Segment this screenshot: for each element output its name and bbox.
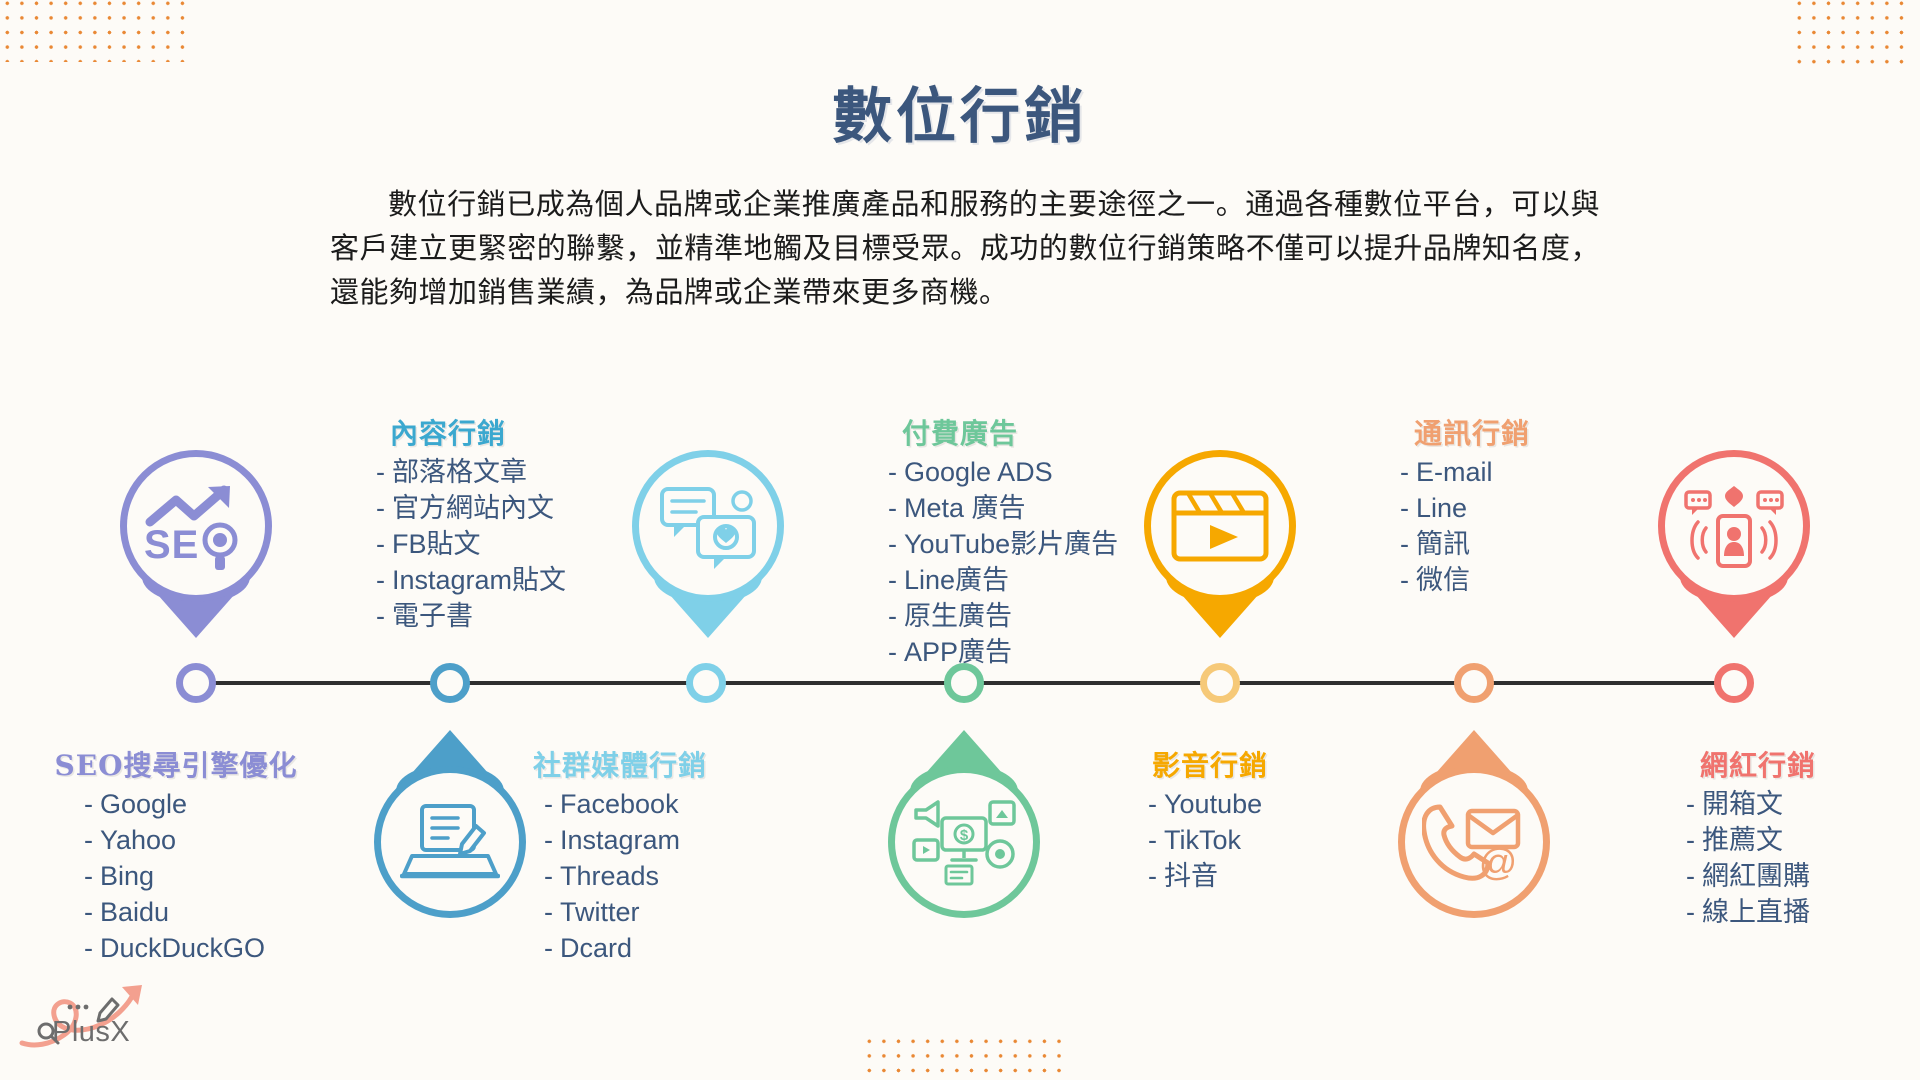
- list-dash: -: [84, 861, 93, 891]
- list-item: -Dcard: [544, 931, 770, 967]
- list-label: Instagram貼文: [392, 565, 566, 595]
- block-seo: SEO搜尋引擎優化 -Google -Yahoo -Bing -Baidu -D…: [26, 744, 326, 967]
- list-dash: -: [376, 529, 385, 559]
- list-dash: -: [84, 825, 93, 855]
- list-dash: -: [544, 897, 553, 927]
- list-item: -推薦文: [1686, 823, 1908, 859]
- list-label: Meta 廣告: [904, 493, 1026, 523]
- list-label: 線上直播: [1702, 897, 1810, 927]
- list-item: -抖音: [1148, 859, 1360, 895]
- pin-video[interactable]: [1144, 450, 1296, 602]
- list-label: 推薦文: [1702, 825, 1783, 855]
- drop-circle: [374, 766, 526, 918]
- list-dash: -: [1148, 789, 1157, 819]
- svg-text:$: $: [960, 827, 969, 844]
- list-dash: -: [84, 897, 93, 927]
- list-label: Threads: [560, 861, 659, 891]
- list-item: -原生廣告: [888, 599, 1208, 635]
- list-label: YouTube影片廣告: [904, 529, 1118, 559]
- block-video: 影音行銷 -Youtube -TikTok -抖音: [1060, 744, 1360, 895]
- list-item: -FB貼文: [376, 527, 676, 563]
- block-list-influencer: -開箱文 -推薦文 -網紅團購 -線上直播: [1608, 787, 1908, 931]
- drop-circle: $: [888, 766, 1040, 918]
- list-label: Baidu: [100, 897, 169, 927]
- list-label: Bing: [100, 861, 154, 891]
- list-label: Instagram: [560, 825, 680, 855]
- list-dash: -: [376, 457, 385, 487]
- list-label: Facebook: [560, 789, 679, 819]
- list-item: -Instagram: [544, 823, 770, 859]
- list-label: Google ADS: [904, 457, 1053, 487]
- list-label: FB貼文: [392, 529, 481, 559]
- laptop-pen-icon: [400, 800, 500, 884]
- block-list-video: -Youtube -TikTok -抖音: [1060, 787, 1360, 895]
- timeline-node-paid[interactable]: [944, 663, 984, 703]
- dot-pattern-top-left: [0, 0, 190, 62]
- svg-text:SE: SE: [144, 523, 199, 567]
- list-item: -開箱文: [1686, 787, 1908, 823]
- list-dash: -: [888, 637, 897, 667]
- block-title-seo: SEO搜尋引擎優化: [26, 744, 326, 784]
- list-item: -Baidu: [84, 895, 326, 931]
- list-label: Line: [1416, 493, 1467, 523]
- plusx-wordmark: PlusX: [52, 1016, 130, 1049]
- list-item: -Twitter: [544, 895, 770, 931]
- list-label: DuckDuckGO: [100, 933, 265, 963]
- list-dash: -: [888, 601, 897, 631]
- pin-circle: [632, 450, 784, 602]
- list-dash: -: [84, 789, 93, 819]
- list-label: 部落格文章: [392, 457, 527, 487]
- intro-paragraph: 數位行銷已成為個人品牌或企業推廣產品和服務的主要途徑之一。通過各種數位平台，可以…: [330, 182, 1600, 314]
- block-comms: 通訊行銷 -E-mail -Line -簡訊 -微信: [1400, 412, 1700, 599]
- list-dash: -: [544, 825, 553, 855]
- list-dash: -: [544, 933, 553, 963]
- list-label: 開箱文: [1702, 789, 1783, 819]
- timeline-node-comms[interactable]: [1454, 663, 1494, 703]
- pin-circle: [1144, 450, 1296, 602]
- list-label: 電子書: [392, 601, 473, 631]
- list-dash: -: [376, 565, 385, 595]
- block-title-influencer: 網紅行銷: [1608, 744, 1908, 784]
- list-label: Yahoo: [100, 825, 176, 855]
- list-item: -線上直播: [1686, 895, 1908, 931]
- timeline-node-social[interactable]: [430, 663, 470, 703]
- svg-text:@: @: [1479, 842, 1518, 883]
- list-dash: -: [1400, 565, 1409, 595]
- list-label: E-mail: [1416, 457, 1493, 487]
- video-play-icon: [1170, 489, 1270, 563]
- list-item: -簡訊: [1400, 527, 1700, 563]
- list-dash: -: [888, 565, 897, 595]
- pin-seo[interactable]: SE: [120, 450, 272, 602]
- block-title-paid: 付費廣告: [888, 412, 1208, 452]
- pin-content[interactable]: [632, 450, 784, 602]
- list-item: -Threads: [544, 859, 770, 895]
- list-dash: -: [544, 789, 553, 819]
- dot-pattern-top-right: [1792, 0, 1912, 74]
- block-influencer: 網紅行銷 -開箱文 -推薦文 -網紅團購 -線上直播: [1608, 744, 1908, 931]
- list-item: -Yahoo: [84, 823, 326, 859]
- list-item: -E-mail: [1400, 455, 1700, 491]
- infographic-canvas: 數位行銷 數位行銷已成為個人品牌或企業推廣產品和服務的主要途徑之一。通過各種數位…: [0, 0, 1920, 1080]
- list-item: -TikTok: [1148, 823, 1360, 859]
- list-dash: -: [376, 601, 385, 631]
- chat-bubbles-icon: [658, 483, 758, 569]
- list-item: -Google: [84, 787, 326, 823]
- list-item: -網紅團購: [1686, 859, 1908, 895]
- list-item: -電子書: [376, 599, 676, 635]
- list-dash: -: [888, 457, 897, 487]
- list-item: -Facebook: [544, 787, 770, 823]
- list-dash: -: [544, 861, 553, 891]
- list-label: 原生廣告: [904, 601, 1012, 631]
- list-dash: -: [1148, 861, 1157, 891]
- list-dash: -: [376, 493, 385, 523]
- list-dash: -: [888, 493, 897, 523]
- page-title: 數位行銷: [0, 68, 1920, 155]
- drop-comms[interactable]: @: [1398, 766, 1550, 918]
- list-dash: -: [1686, 789, 1695, 819]
- list-dash: -: [1400, 457, 1409, 487]
- list-label: APP廣告: [904, 637, 1012, 667]
- list-item: -DuckDuckGO: [84, 931, 326, 967]
- phone-streaming-icon: [1682, 484, 1786, 568]
- list-label: 簡訊: [1416, 529, 1470, 559]
- list-item: -Instagram貼文: [376, 563, 676, 599]
- list-label: Twitter: [560, 897, 640, 927]
- list-dash: -: [1686, 825, 1695, 855]
- block-title-video: 影音行銷: [1060, 744, 1360, 784]
- block-content: 內容行銷 -部落格文章 -官方網站內文 -FB貼文 -Instagram貼文 -…: [376, 412, 676, 635]
- list-item: -APP廣告: [888, 635, 1208, 671]
- timeline-node-influencer[interactable]: [1714, 663, 1754, 703]
- list-dash: -: [84, 933, 93, 963]
- list-dash: -: [1148, 825, 1157, 855]
- list-dash: -: [1400, 493, 1409, 523]
- drop-paid[interactable]: $: [888, 766, 1040, 918]
- timeline-node-video[interactable]: [1200, 663, 1240, 703]
- block-title-comms: 通訊行銷: [1400, 412, 1700, 452]
- drop-circle: @: [1398, 766, 1550, 918]
- list-label: Google: [100, 789, 187, 819]
- block-title-content: 內容行銷: [376, 412, 676, 452]
- list-dash: -: [888, 529, 897, 559]
- list-item: -Line: [1400, 491, 1700, 527]
- list-label: Dcard: [560, 933, 632, 963]
- list-label: 微信: [1416, 565, 1470, 595]
- list-item: -Bing: [84, 859, 326, 895]
- list-label: 網紅團購: [1702, 861, 1810, 891]
- megaphone-screen-icon: $: [912, 796, 1016, 888]
- list-label: 抖音: [1164, 861, 1218, 891]
- list-label: TikTok: [1164, 825, 1241, 855]
- pin-circle: SE: [120, 450, 272, 602]
- block-list-seo: -Google -Yahoo -Bing -Baidu -DuckDuckGO: [26, 787, 326, 967]
- seo-magnifier-icon: SE: [142, 482, 250, 570]
- timeline-node-seo[interactable]: [176, 663, 216, 703]
- dot-pattern-bottom-center: [862, 1034, 1062, 1074]
- list-label: Youtube: [1164, 789, 1262, 819]
- list-item: -部落格文章: [376, 455, 676, 491]
- phone-envelope-at-icon: @: [1422, 801, 1526, 883]
- list-dash: -: [1686, 897, 1695, 927]
- list-dash: -: [1686, 861, 1695, 891]
- list-item: -Youtube: [1148, 787, 1360, 823]
- block-list-comms: -E-mail -Line -簡訊 -微信: [1400, 455, 1700, 599]
- block-list-content: -部落格文章 -官方網站內文 -FB貼文 -Instagram貼文 -電子書: [376, 455, 676, 635]
- pin-influencer[interactable]: [1658, 450, 1810, 602]
- list-label: Line廣告: [904, 565, 1009, 595]
- list-item: -微信: [1400, 563, 1700, 599]
- list-dash: -: [1400, 529, 1409, 559]
- list-label: 官方網站內文: [392, 493, 554, 523]
- timeline-node-content[interactable]: [686, 663, 726, 703]
- drop-social[interactable]: [374, 766, 526, 918]
- pin-circle: [1658, 450, 1810, 602]
- list-item: -官方網站內文: [376, 491, 676, 527]
